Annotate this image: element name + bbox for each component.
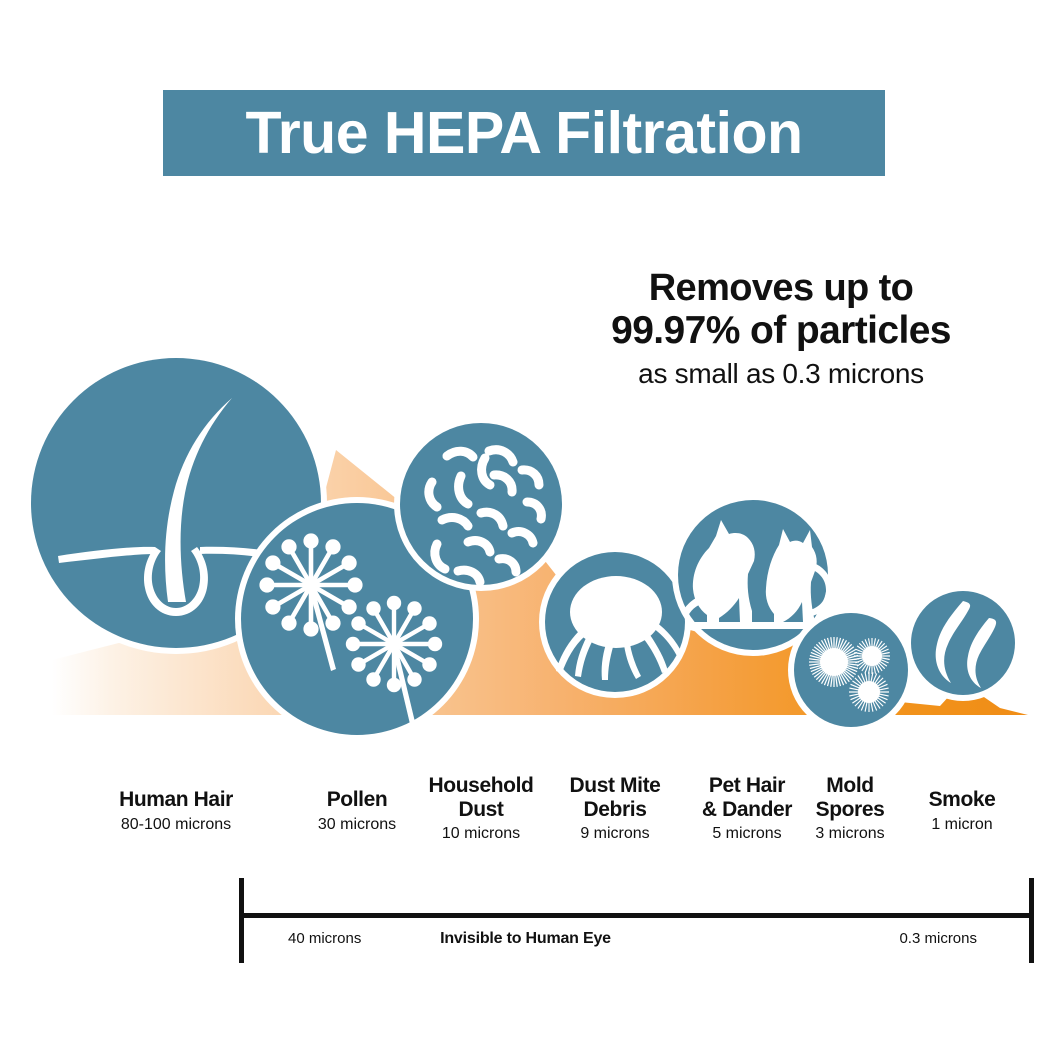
particle-size-scene [0, 330, 1051, 750]
hepa-filtration-infographic: True HEPA Filtration Removes up to 99.97… [0, 0, 1051, 1051]
scale-bar-svg [0, 868, 1051, 968]
particle-circle-household-dust[interactable] [394, 417, 568, 591]
particle-name: Smoke [887, 788, 1037, 812]
scale-right-label: 0.3 microns [899, 930, 977, 947]
scale-right-cap [1029, 878, 1034, 963]
particle-size: 80-100 microns [61, 815, 291, 836]
headline-line-1: Removes up to [540, 268, 1022, 309]
particle-labels-row: Human Hair 80-100 microns Pollen 30 micr… [0, 770, 1051, 860]
invisible-to-eye-scale-bar [0, 868, 1051, 968]
particle-circle-dust-mite[interactable] [539, 546, 691, 698]
particle-size: 1 micron [887, 815, 1037, 836]
particle-label-human-hair: Human Hair 80-100 microns [61, 788, 291, 835]
page-title: True HEPA Filtration [245, 104, 802, 163]
scale-center-label: Invisible to Human Eye [0, 930, 1051, 948]
title-banner: True HEPA Filtration [163, 90, 885, 176]
particle-circle-smoke[interactable] [905, 585, 1021, 701]
particle-name: Human Hair [61, 788, 291, 812]
particle-label-smoke: Smoke 1 micron [887, 788, 1037, 835]
scale-axis-line [239, 913, 1034, 918]
scale-left-cap [239, 878, 244, 963]
particle-circle-mold-spores[interactable] [788, 607, 914, 733]
scene-svg [0, 330, 1051, 750]
